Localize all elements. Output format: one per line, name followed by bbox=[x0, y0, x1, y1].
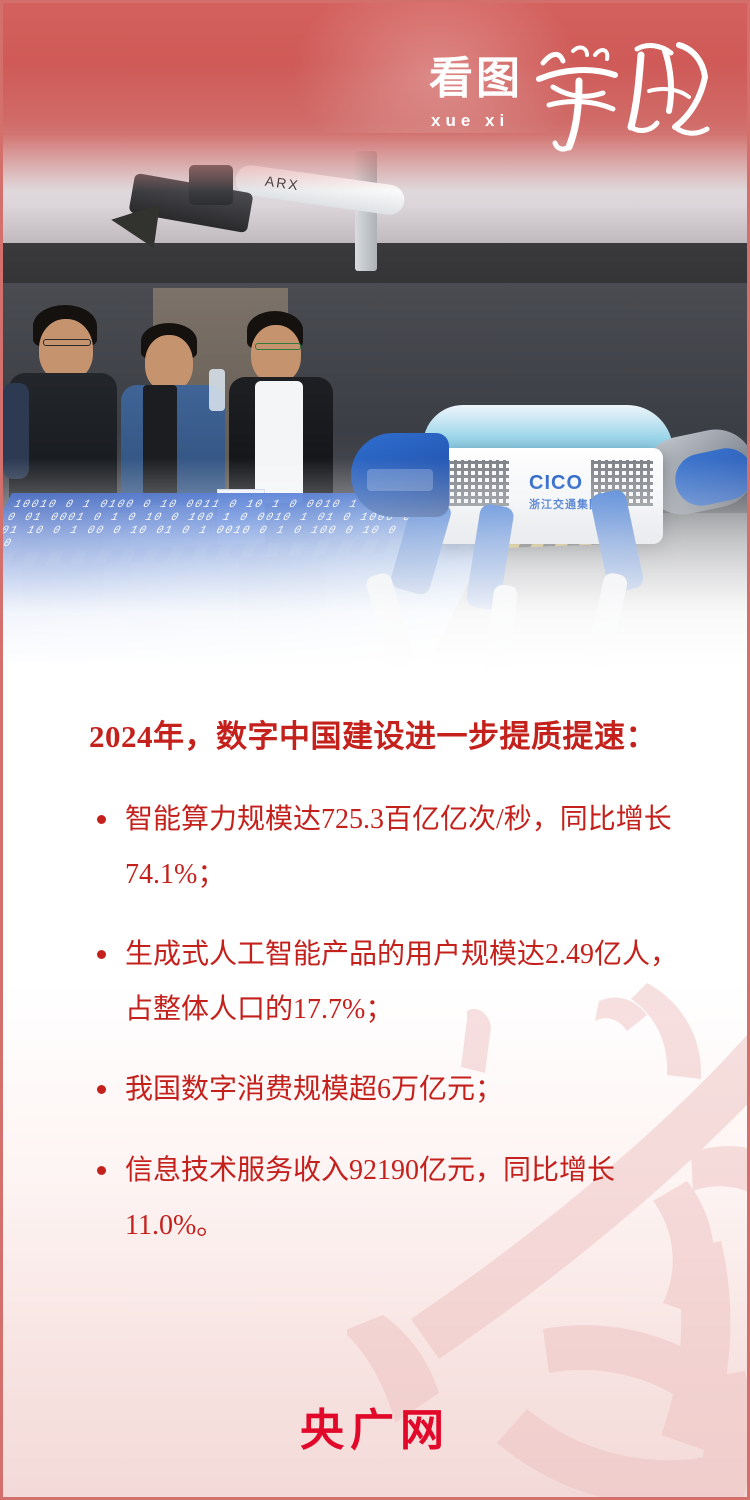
brand-lockup: 看图 xue xi bbox=[421, 49, 701, 157]
page-title: 2024年，数字中国建设进一步提质提速： bbox=[89, 711, 657, 756]
site-logo-text: 央广网 bbox=[300, 1409, 450, 1453]
brand-title-pinyin: xue xi bbox=[431, 111, 509, 131]
list-item: 智能算力规模达725.3百亿亿次/秒，同比增长74.1%； bbox=[89, 793, 679, 902]
list-item-text: 我国数字消费规模超6万亿元； bbox=[125, 1074, 503, 1105]
bullet-dot-icon bbox=[97, 1085, 106, 1094]
list-item-text: 信息技术服务收入92190亿元，同比增长11.0%。 bbox=[125, 1155, 615, 1241]
brand-title-cn: 看图 bbox=[429, 57, 523, 101]
bullet-dot-icon bbox=[97, 815, 106, 824]
list-item-text: 智能算力规模达725.3百亿亿次/秒，同比增长74.1%； bbox=[125, 804, 672, 890]
site-logo: 央广网 bbox=[3, 1409, 747, 1453]
bullet-dot-icon bbox=[97, 950, 106, 959]
xuexi-calligraphy-icon bbox=[529, 35, 719, 153]
list-item: 我国数字消费规模超6万亿元； bbox=[89, 1063, 679, 1118]
content-panel: 2024年，数字中国建设进一步提质提速： 智能算力规模达725.3百亿亿次/秒，… bbox=[3, 663, 747, 1497]
list-item-text: 生成式人工智能产品的用户规模达2.49亿人，占整体人口的17.7%； bbox=[125, 939, 678, 1025]
photo-bottom-fade bbox=[3, 458, 747, 673]
bullet-dot-icon bbox=[97, 1166, 106, 1175]
statistics-list: 智能算力规模达725.3百亿亿次/秒，同比增长74.1%； 生成式人工智能产品的… bbox=[89, 793, 679, 1279]
poster-root: ARX bbox=[0, 0, 750, 1500]
robotic-arm-gripper bbox=[108, 198, 160, 248]
hero-photo: ARX bbox=[3, 133, 747, 673]
list-item: 信息技术服务收入92190亿元，同比增长11.0%。 bbox=[89, 1144, 679, 1253]
list-item: 生成式人工智能产品的用户规模达2.49亿人，占整体人口的17.7%； bbox=[89, 928, 679, 1037]
